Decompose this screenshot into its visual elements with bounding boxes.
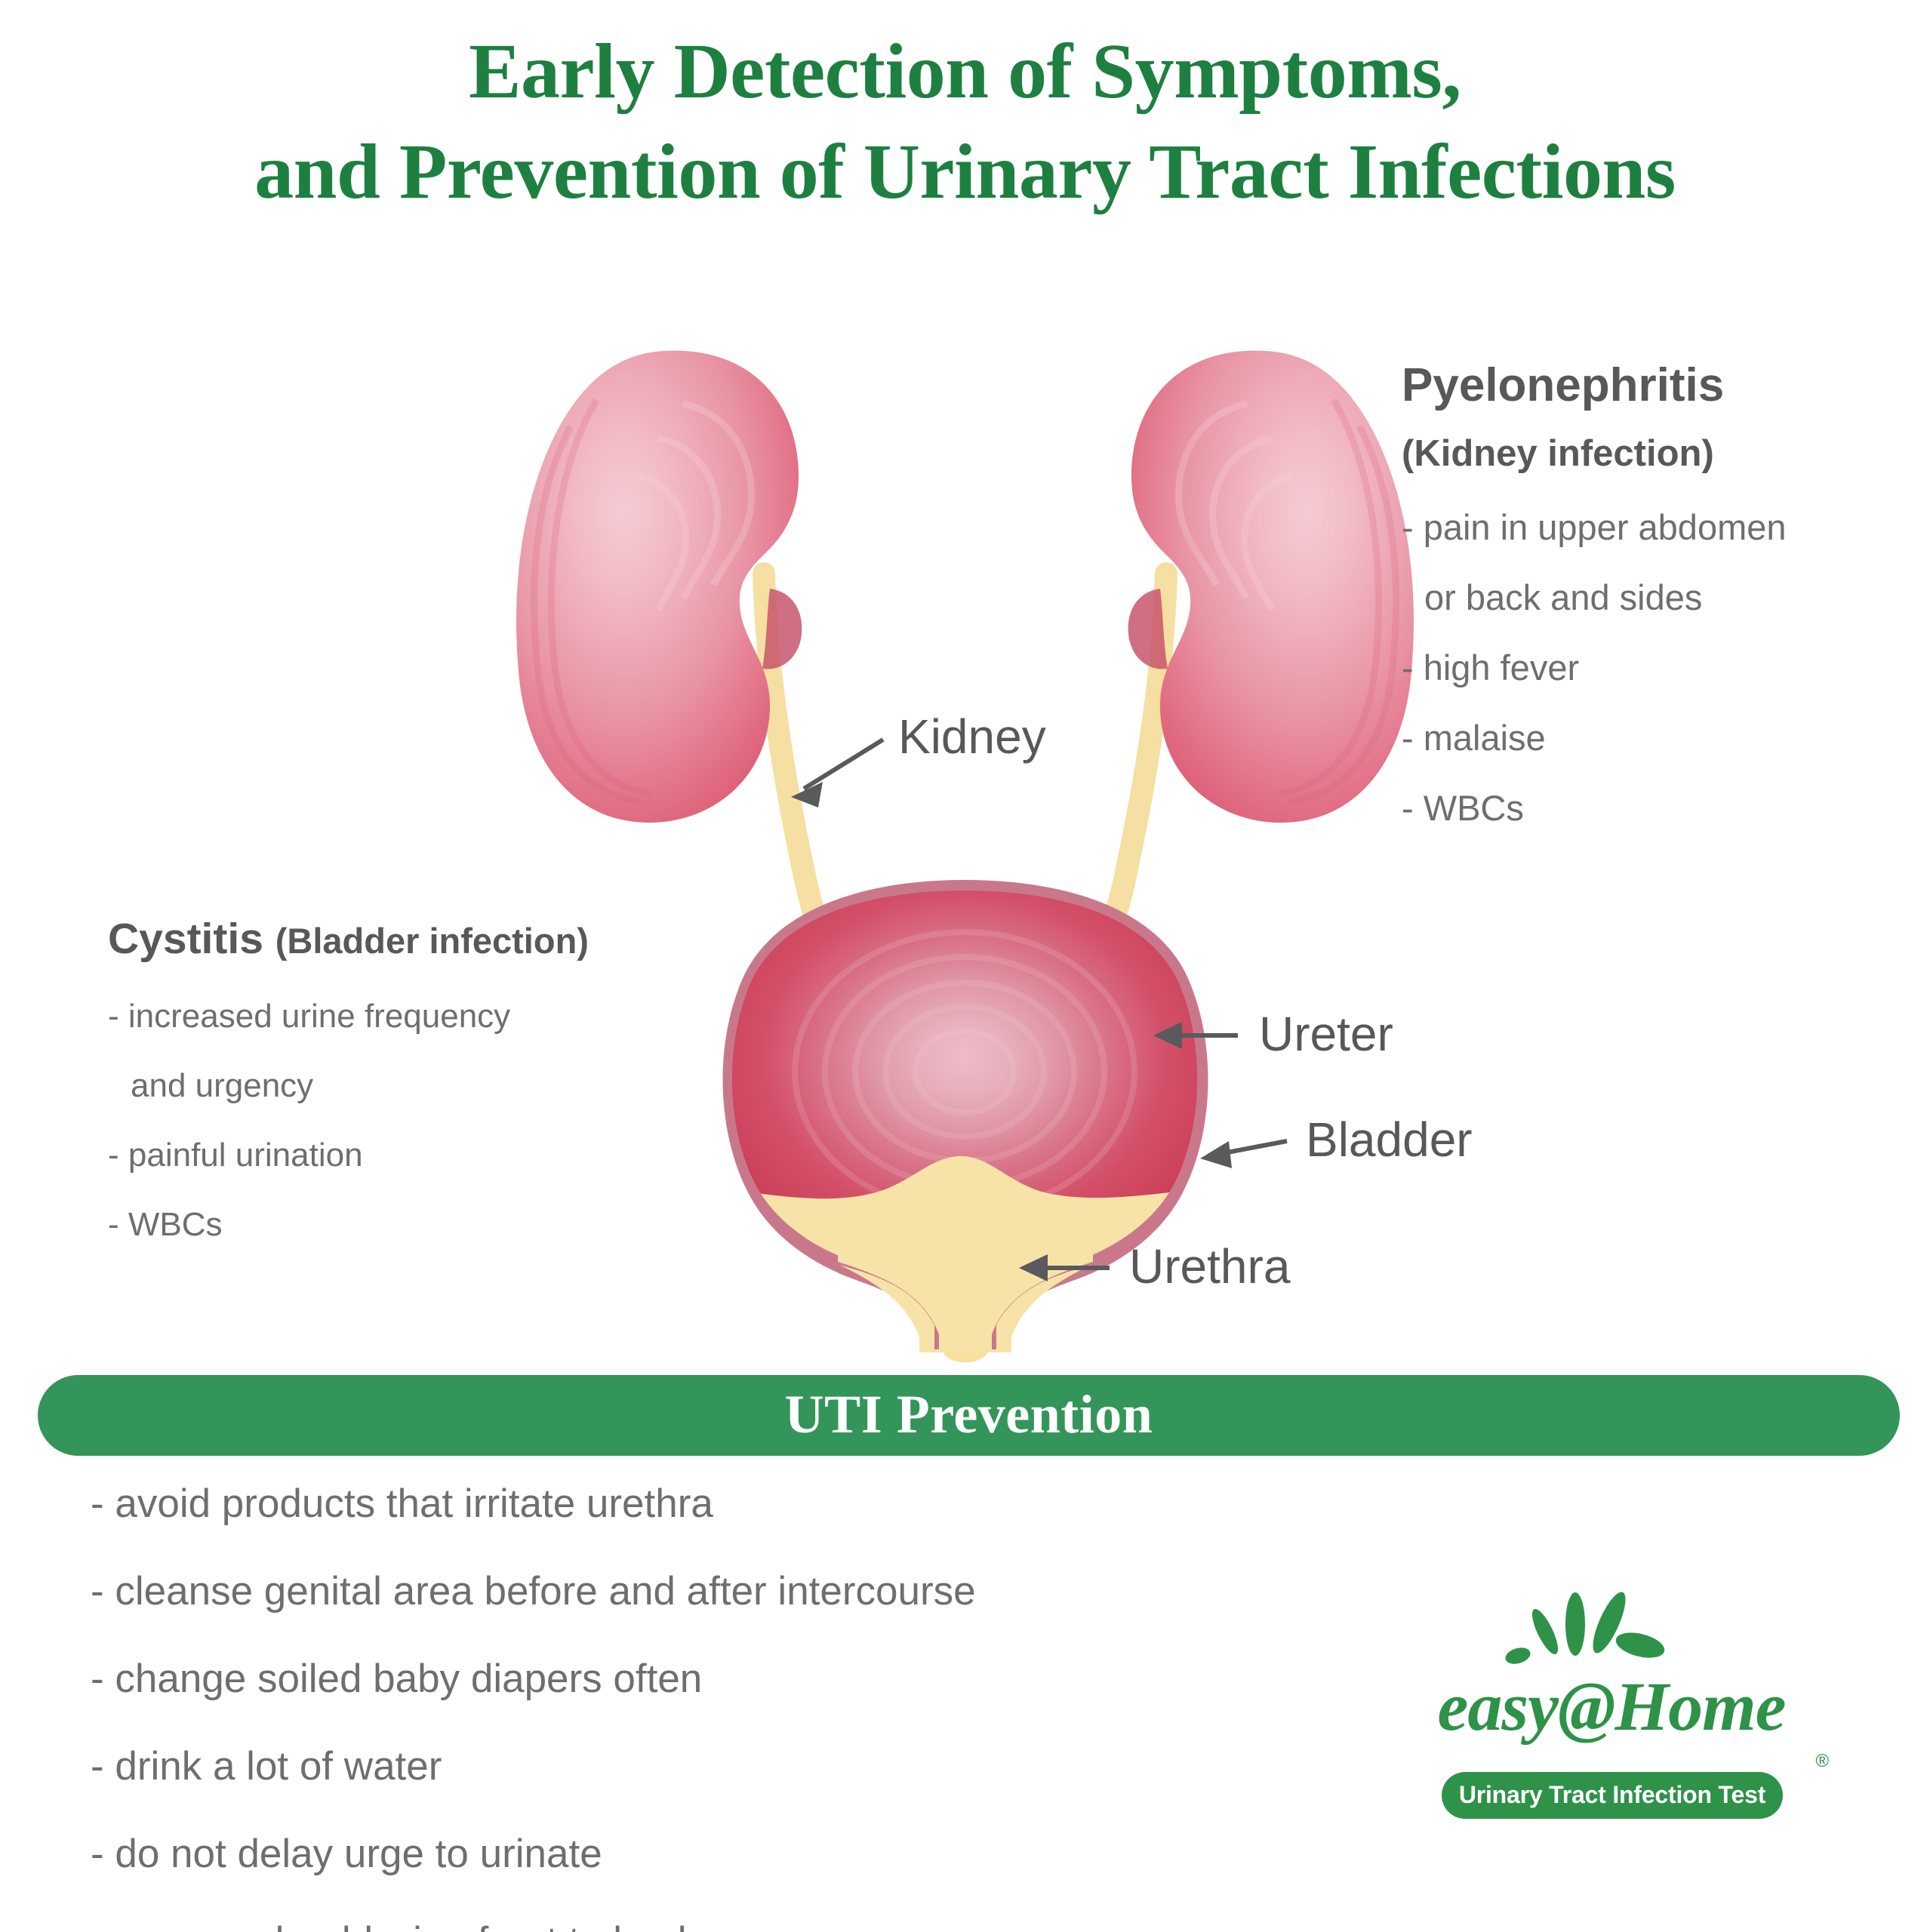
title-line-1: Early Detection of Symptoms, — [0, 21, 1930, 122]
prevention-item: - avoid products that irritate urethra — [91, 1484, 1374, 1524]
pyelonephritis-symptom: - pain in upper abdomen — [1402, 509, 1787, 545]
label-urethra-text: Urethra — [1129, 1239, 1291, 1294]
sunburst-icon — [1400, 1577, 1823, 1675]
pyelonephritis-symptom: - malaise — [1402, 720, 1787, 755]
cystitis-symptom: - painful urination — [108, 1139, 589, 1172]
uti-prevention-title: UTI Prevention — [38, 1375, 1900, 1456]
prevention-item: - change soiled baby diapers often — [91, 1659, 1374, 1699]
cystitis-symptom: - increased urine frequency — [108, 1000, 589, 1033]
cystitis-symptom: - WBCs — [108, 1208, 589, 1241]
label-kidney-text: Kidney — [898, 709, 1046, 764]
label-kidney: Kidney — [791, 709, 1046, 808]
label-bladder-text: Bladder — [1306, 1112, 1473, 1167]
pyelonephritis-heading: Pyelonephritis — [1402, 359, 1787, 411]
easy-at-home-logo: easy@Home ® Urinary Tract Infection Test — [1400, 1577, 1823, 1826]
uti-prevention-banner: UTI Prevention — [38, 1375, 1900, 1456]
logo-text: easy@Home — [1438, 1668, 1786, 1745]
cystitis-heading: Cystitis (Bladder infection) — [108, 915, 589, 964]
title-line-2: and Prevention of Urinary Tract Infectio… — [0, 122, 1930, 222]
infographic-page: Early Detection of Symptoms, and Prevent… — [0, 0, 1930, 1932]
label-bladder: Bladder — [1200, 1112, 1473, 1168]
registered-mark-icon: ® — [1815, 1751, 1829, 1772]
prevention-item: - women should wipe front to back — [91, 1921, 1374, 1932]
logo-wordmark: easy@Home ® — [1400, 1666, 1823, 1746]
pyelonephritis-symptom: or back and sides — [1402, 580, 1787, 615]
prevention-list: - avoid products that irritate urethra -… — [91, 1484, 1374, 1932]
cystitis-heading-suffix: (Bladder infection) — [275, 921, 589, 961]
pyelonephritis-symptom: - WBCs — [1402, 790, 1787, 826]
label-ureter-text: Ureter — [1259, 1007, 1393, 1061]
pyelonephritis-symptom: - high fever — [1402, 650, 1787, 685]
product-badge-text: Urinary Tract Infection Test — [1442, 1772, 1783, 1819]
prevention-item: - drink a lot of water — [91, 1746, 1374, 1786]
cystitis-symptom: and urgency — [108, 1069, 589, 1103]
page-title: Early Detection of Symptoms, and Prevent… — [0, 21, 1930, 222]
prevention-item: - cleanse genital area before and after … — [91, 1571, 1374, 1611]
cystitis-heading-main: Cystitis — [108, 915, 263, 963]
pyelonephritis-subheading: (Kidney infection) — [1402, 432, 1787, 475]
cystitis-block: Cystitis (Bladder infection) - increased… — [108, 915, 589, 1241]
prevention-item: - do not delay urge to urinate — [91, 1834, 1374, 1874]
product-badge: Urinary Tract Infection Test — [1442, 1772, 1783, 1819]
pyelonephritis-block: Pyelonephritis (Kidney infection) - pain… — [1402, 359, 1787, 826]
